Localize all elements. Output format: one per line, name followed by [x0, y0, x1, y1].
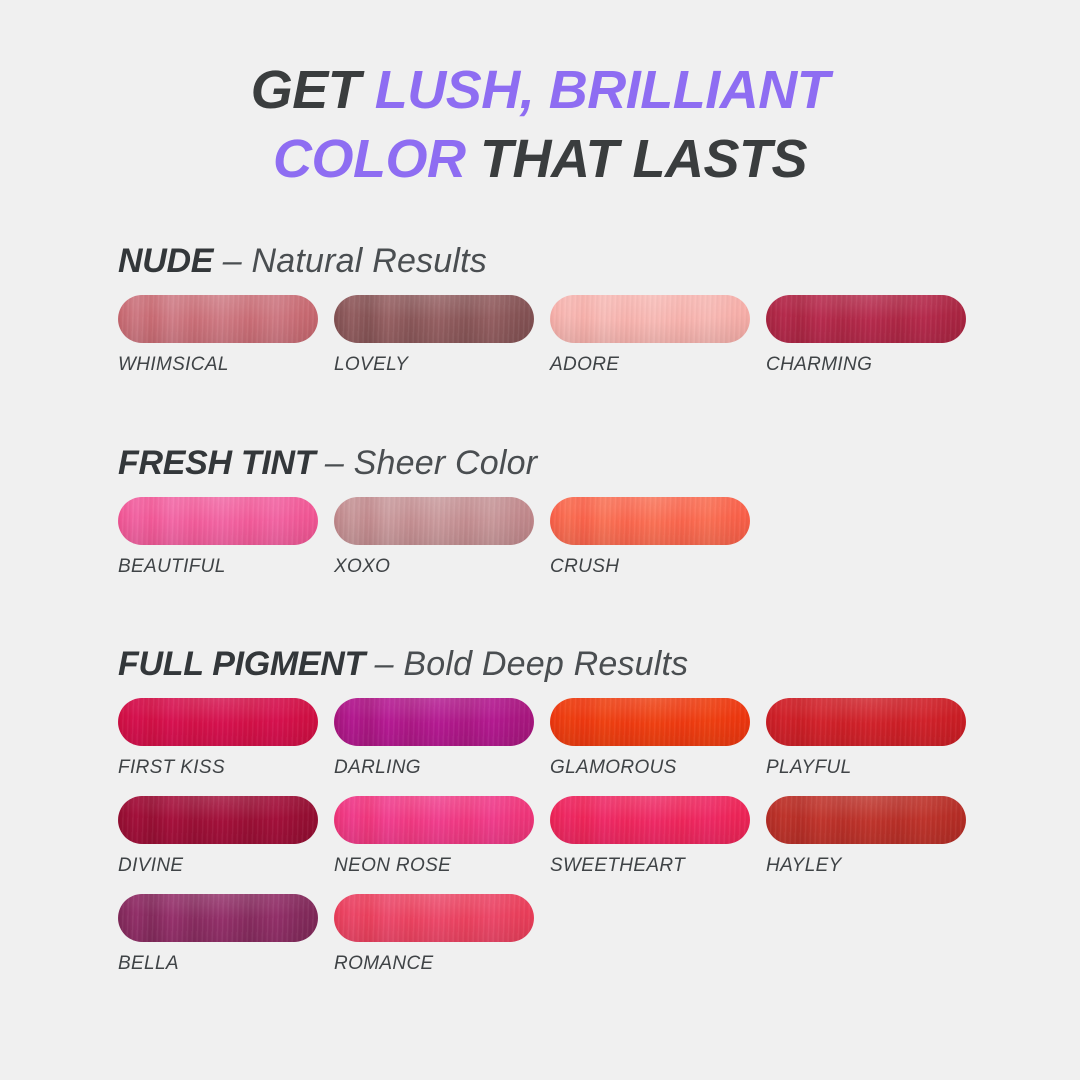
section-heading-full-pigment: FULL PIGMENT – Bold Deep Results: [118, 645, 1018, 684]
swatch-label: GLAMOROUS: [550, 757, 750, 779]
swatch-bella[interactable]: [118, 894, 318, 942]
swatch-cell-beautiful[interactable]: BEAUTIFUL: [118, 497, 318, 578]
swatch-neon-rose[interactable]: [334, 796, 534, 844]
swatch-darling[interactable]: [334, 698, 534, 746]
swatch-cell-whimsical[interactable]: WHIMSICAL: [118, 295, 318, 376]
swatch-label: SWEETHEART: [550, 855, 750, 877]
swatch-cell-hayley[interactable]: HAYLEY: [766, 796, 966, 877]
section-name-full-pigment: FULL PIGMENT: [118, 645, 365, 683]
swatch-cell-sweetheart[interactable]: SWEETHEART: [550, 796, 750, 877]
swatch-label: WHIMSICAL: [118, 354, 318, 376]
swatch-cell-lovely[interactable]: LOVELY: [334, 295, 534, 376]
swatch-row: FIRST KISS DARLING GLAMOROUS PLAYFUL: [118, 698, 1018, 779]
swatch-label: PLAYFUL: [766, 757, 966, 779]
swatch-label: BEAUTIFUL: [118, 556, 318, 578]
swatch-cell-first-kiss[interactable]: FIRST KISS: [118, 698, 318, 779]
swatch-glamorous[interactable]: [550, 698, 750, 746]
section-full-pigment: FULL PIGMENT – Bold Deep Results FIRST K…: [118, 645, 1018, 979]
section-nude: NUDE – Natural Results WHIMSICAL LOVELY …: [118, 242, 1018, 380]
swatch-label: ADORE: [550, 354, 750, 376]
swatch-crush[interactable]: [550, 497, 750, 545]
headline-text-get: GET: [251, 60, 375, 120]
swatch-label: CHARMING: [766, 354, 966, 376]
swatch-label: NEON ROSE: [334, 855, 534, 877]
swatch-cell-adore[interactable]: ADORE: [550, 295, 750, 376]
swatch-first-kiss[interactable]: [118, 698, 318, 746]
swatch-cell-crush[interactable]: CRUSH: [550, 497, 750, 578]
swatch-lovely[interactable]: [334, 295, 534, 343]
swatch-cell-xoxo[interactable]: XOXO: [334, 497, 534, 578]
swatch-label: BELLA: [118, 953, 318, 975]
section-subtitle-nude: – Natural Results: [213, 242, 487, 280]
swatch-cell-romance[interactable]: ROMANCE: [334, 894, 534, 975]
swatch-row: WHIMSICAL LOVELY ADORE CHARMING: [118, 295, 1018, 376]
swatch-label: DIVINE: [118, 855, 318, 877]
swatch-cell-bella[interactable]: BELLA: [118, 894, 318, 975]
swatch-sweetheart[interactable]: [550, 796, 750, 844]
swatch-cell-playful[interactable]: PLAYFUL: [766, 698, 966, 779]
swatch-label: XOXO: [334, 556, 534, 578]
section-subtitle-fresh-tint: – Sheer Color: [315, 444, 537, 482]
swatch-label: ROMANCE: [334, 953, 534, 975]
swatch-label: HAYLEY: [766, 855, 966, 877]
swatch-cell-neon-rose[interactable]: NEON ROSE: [334, 796, 534, 877]
swatch-romance[interactable]: [334, 894, 534, 942]
section-fresh-tint: FRESH TINT – Sheer Color BEAUTIFUL XOXO …: [118, 444, 1018, 582]
swatch-cell-glamorous[interactable]: GLAMOROUS: [550, 698, 750, 779]
page-title: GET LUSH, BRILLIANT COLOR THAT LASTS: [0, 56, 1080, 194]
swatch-xoxo[interactable]: [334, 497, 534, 545]
section-heading-fresh-tint: FRESH TINT – Sheer Color: [118, 444, 1018, 483]
swatch-label: CRUSH: [550, 556, 750, 578]
swatch-hayley[interactable]: [766, 796, 966, 844]
section-heading-nude: NUDE – Natural Results: [118, 242, 1018, 281]
swatch-row: BEAUTIFUL XOXO CRUSH: [118, 497, 1018, 578]
swatch-row: BELLA ROMANCE: [118, 894, 1018, 975]
headline-line-2: COLOR THAT LASTS: [0, 125, 1080, 194]
swatch-whimsical[interactable]: [118, 295, 318, 343]
swatch-divine[interactable]: [118, 796, 318, 844]
section-name-fresh-tint: FRESH TINT: [118, 444, 315, 482]
headline-line-1: GET LUSH, BRILLIANT: [0, 56, 1080, 125]
swatch-beautiful[interactable]: [118, 497, 318, 545]
section-name-nude: NUDE: [118, 242, 213, 280]
swatch-label: DARLING: [334, 757, 534, 779]
swatch-label: LOVELY: [334, 354, 534, 376]
swatch-playful[interactable]: [766, 698, 966, 746]
headline-accent-color: COLOR: [273, 129, 466, 189]
section-subtitle-full-pigment: – Bold Deep Results: [365, 645, 688, 683]
swatch-row: DIVINE NEON ROSE SWEETHEART HAYLEY: [118, 796, 1018, 877]
swatch-adore[interactable]: [550, 295, 750, 343]
swatch-cell-divine[interactable]: DIVINE: [118, 796, 318, 877]
headline-text-that-lasts: THAT LASTS: [466, 129, 807, 189]
lipstick-shade-chart: GET LUSH, BRILLIANT COLOR THAT LASTS NUD…: [0, 0, 1080, 1080]
swatch-charming[interactable]: [766, 295, 966, 343]
swatch-cell-charming[interactable]: CHARMING: [766, 295, 966, 376]
swatch-label: FIRST KISS: [118, 757, 318, 779]
swatch-cell-darling[interactable]: DARLING: [334, 698, 534, 779]
headline-accent-lush-brilliant: LUSH, BRILLIANT: [375, 60, 829, 120]
